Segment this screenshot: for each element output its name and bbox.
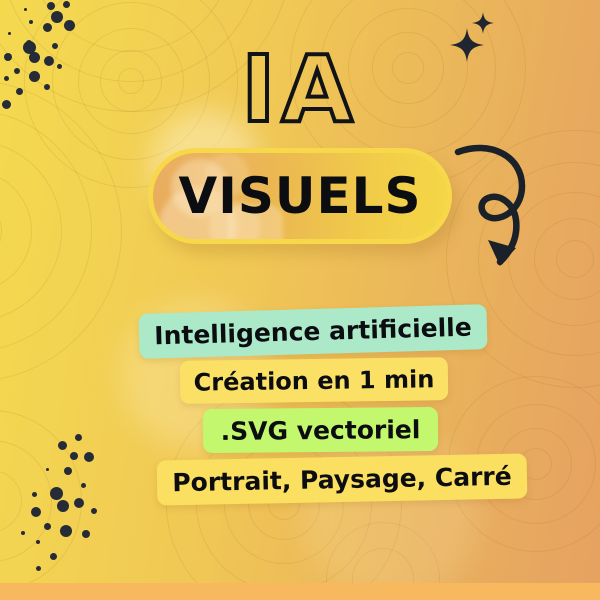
visuels-pill[interactable]: VISUELS xyxy=(148,148,452,244)
feature-badge-svg-vectoriel[interactable]: .SVG vectoriel xyxy=(203,407,438,453)
poster-canvas: IA VISUELS Intelligence artificielle Cré… xyxy=(0,0,600,600)
pill-label: VISUELS xyxy=(179,167,422,225)
feature-badge-label: Portrait, Paysage, Carré xyxy=(172,462,512,498)
bottom-accent-strip xyxy=(0,583,600,600)
feature-badge-label: .SVG vectoriel xyxy=(221,415,421,446)
feature-badge-label: Création en 1 min xyxy=(193,365,434,396)
page-title: IA xyxy=(0,44,600,136)
feature-badge-formats[interactable]: Portrait, Paysage, Carré xyxy=(157,453,528,505)
feature-badge-intelligence-artificielle[interactable]: Intelligence artificielle xyxy=(138,304,487,359)
feature-badge-creation-en-1-min[interactable]: Création en 1 min xyxy=(180,357,449,404)
sparkle-small-icon xyxy=(472,12,494,34)
feature-badge-list: Intelligence artificielle Création en 1 … xyxy=(0,300,600,525)
feature-badge-label: Intelligence artificielle xyxy=(154,313,472,351)
